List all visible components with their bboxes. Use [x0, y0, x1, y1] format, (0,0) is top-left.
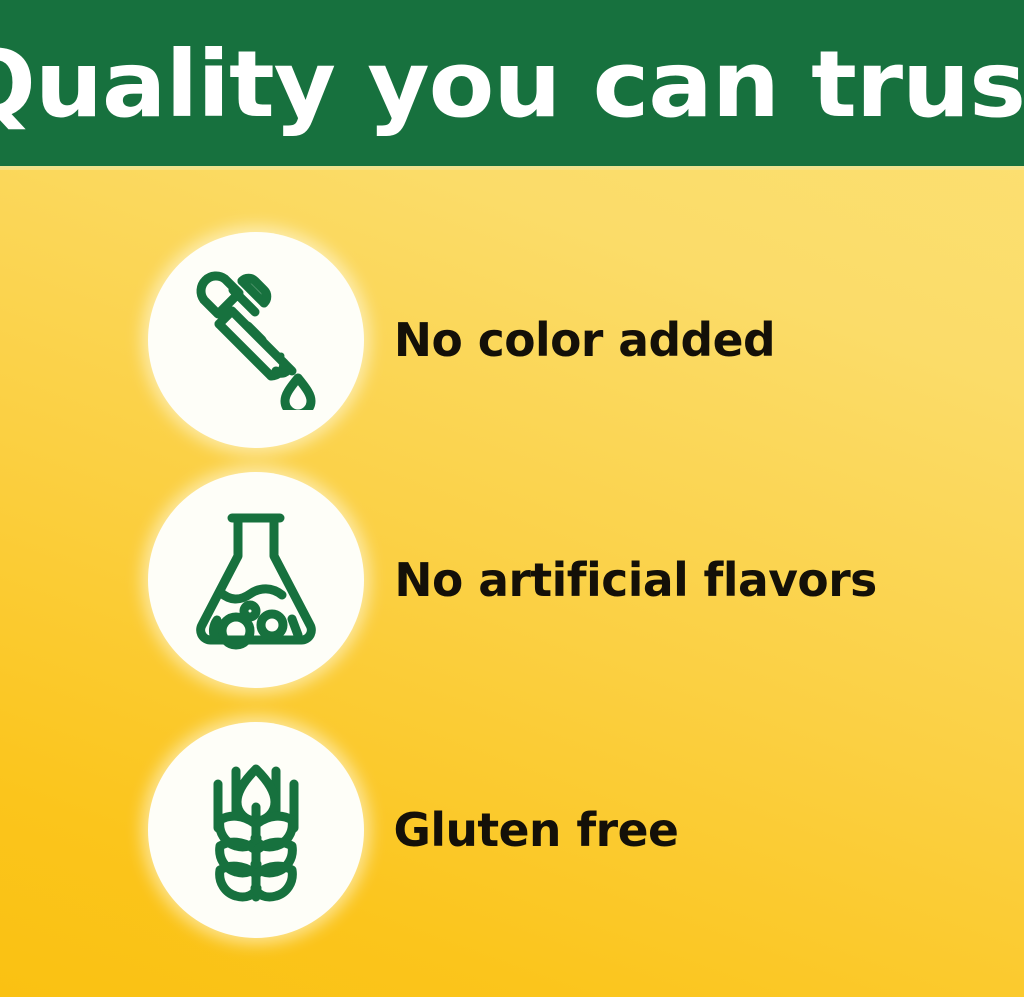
wheat-icon	[191, 755, 321, 905]
dropper-icon	[186, 270, 326, 410]
feature-row: Gluten free	[0, 715, 1024, 945]
band-divider	[0, 166, 1024, 170]
feature-row: No color added	[0, 225, 1024, 455]
flask-icon	[188, 509, 324, 651]
icon-badge	[148, 472, 364, 688]
header-band: Quality you can trust	[0, 0, 1024, 166]
feature-label: No artificial flavors	[394, 557, 876, 603]
page-title: Quality you can trust	[0, 39, 1024, 131]
quality-claims-poster: Quality you can trust	[0, 0, 1024, 997]
feature-label: No color added	[394, 317, 775, 363]
feature-label: Gluten free	[393, 807, 678, 853]
icon-badge	[148, 722, 364, 938]
feature-row: No artificial flavors	[0, 465, 1024, 695]
icon-badge	[148, 232, 364, 448]
